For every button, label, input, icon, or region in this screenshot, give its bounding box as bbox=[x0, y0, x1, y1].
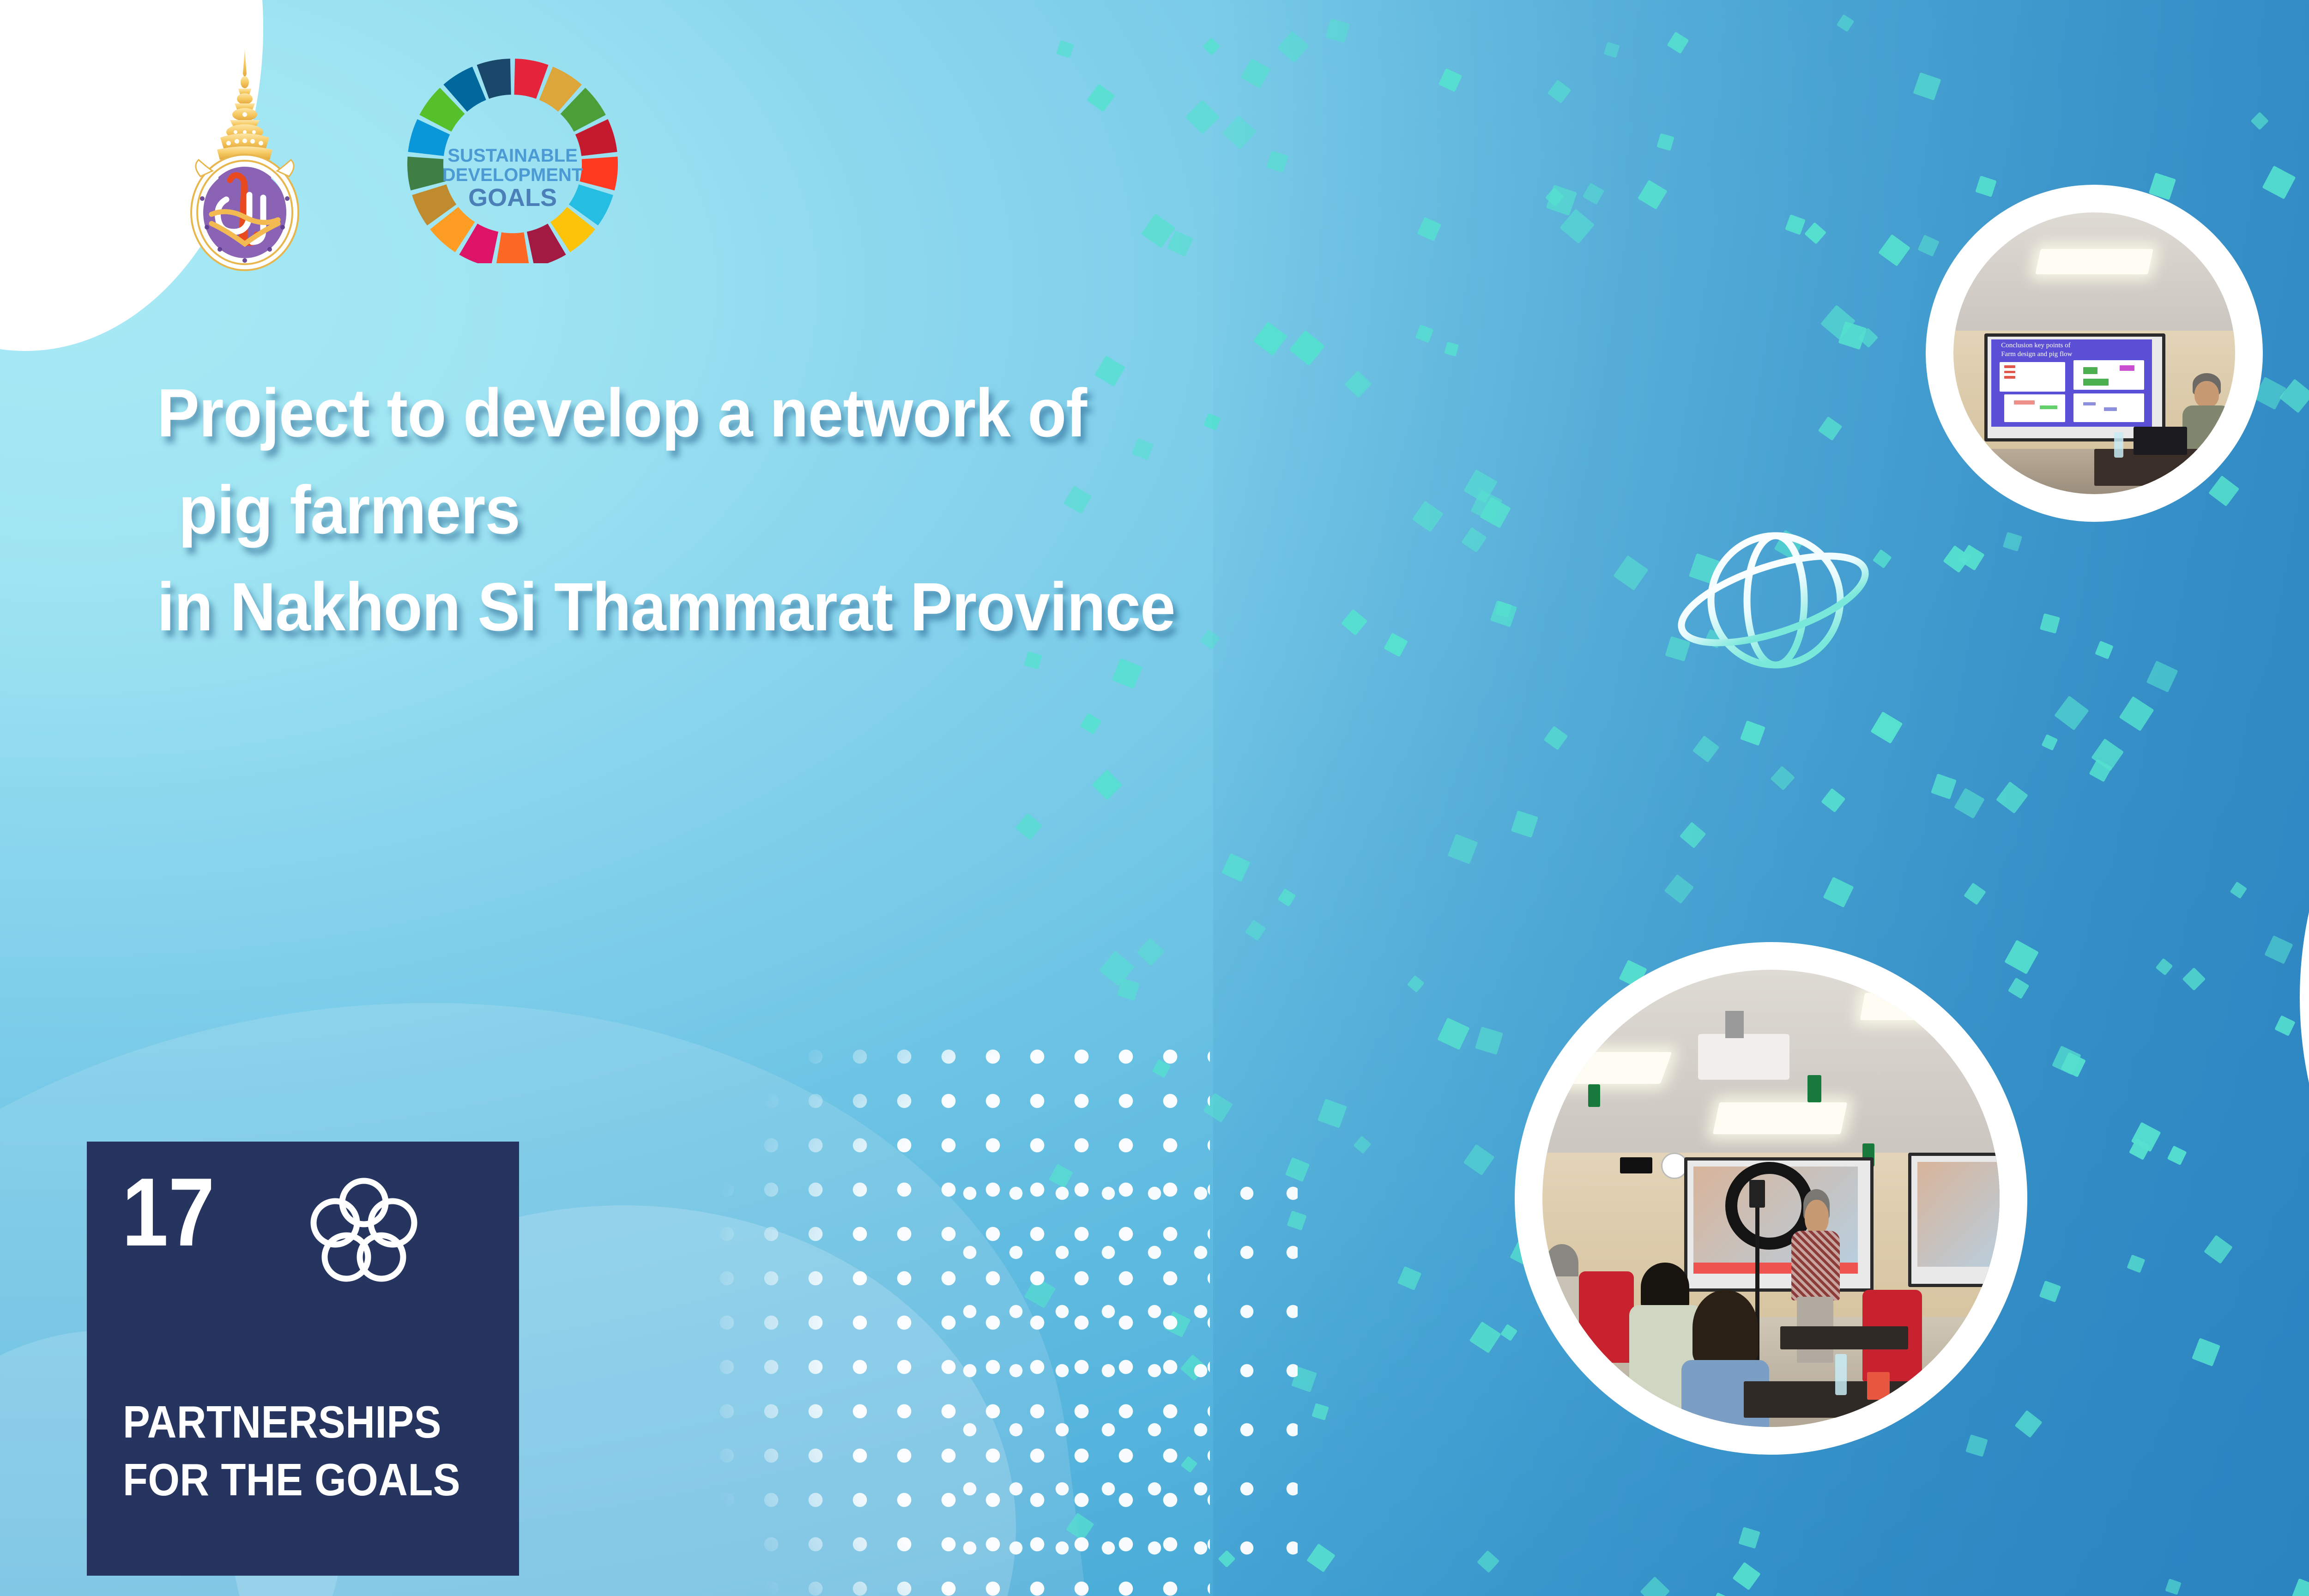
sdg-wheel-line3: GOALS bbox=[468, 184, 557, 212]
slide-title-line1: Conclusion key points of bbox=[2001, 342, 2070, 350]
title-line-1: Project to develop a network of bbox=[157, 365, 1703, 462]
sdg-wheel-segment bbox=[407, 157, 446, 190]
sdg-wheel-line1: SUSTAINABLE bbox=[447, 145, 577, 166]
sdg-wheel-segment bbox=[580, 157, 618, 190]
partnership-rings-icon bbox=[308, 1174, 419, 1289]
globe-network-icon bbox=[1667, 510, 1880, 695]
sdg-wheel-line2: DEVELOPMENT bbox=[442, 165, 583, 185]
sdg-badge-line2: FOR THE GOALS bbox=[123, 1451, 464, 1509]
sdg-badge-number: 17 bbox=[122, 1164, 215, 1261]
photo-presentation-slide: Conclusion key points of Farm design and… bbox=[1926, 185, 2263, 522]
sdg-wheel-segment bbox=[496, 232, 530, 263]
logo-row: SUSTAINABLE DEVELOPMENT GOALS bbox=[152, 46, 628, 277]
walailak-university-seal bbox=[152, 46, 337, 277]
page-title: Project to develop a network of pig farm… bbox=[157, 365, 1703, 656]
sdg-badge-line1: PARTNERSHIPS bbox=[123, 1393, 464, 1451]
slide-title-line2: Farm design and pig flow bbox=[2001, 351, 2072, 358]
title-line-2: pig farmers bbox=[157, 462, 1703, 559]
dot-grid-pattern-secondary bbox=[947, 1164, 1298, 1596]
sdg-17-badge[interactable]: 17 PARTNERSHIPS FOR THE GOALS bbox=[87, 1142, 519, 1576]
photo-seminar-room bbox=[1515, 942, 2027, 1455]
sdg-badge-text: PARTNERSHIPS FOR THE GOALS bbox=[123, 1393, 464, 1509]
title-line-3: in Nakhon Si Thammarat Province bbox=[157, 559, 1703, 656]
banner-canvas: SUSTAINABLE DEVELOPMENT GOALS Project to… bbox=[0, 0, 2309, 1596]
sdg-wheel-logo: SUSTAINABLE DEVELOPMENT GOALS bbox=[397, 46, 628, 263]
